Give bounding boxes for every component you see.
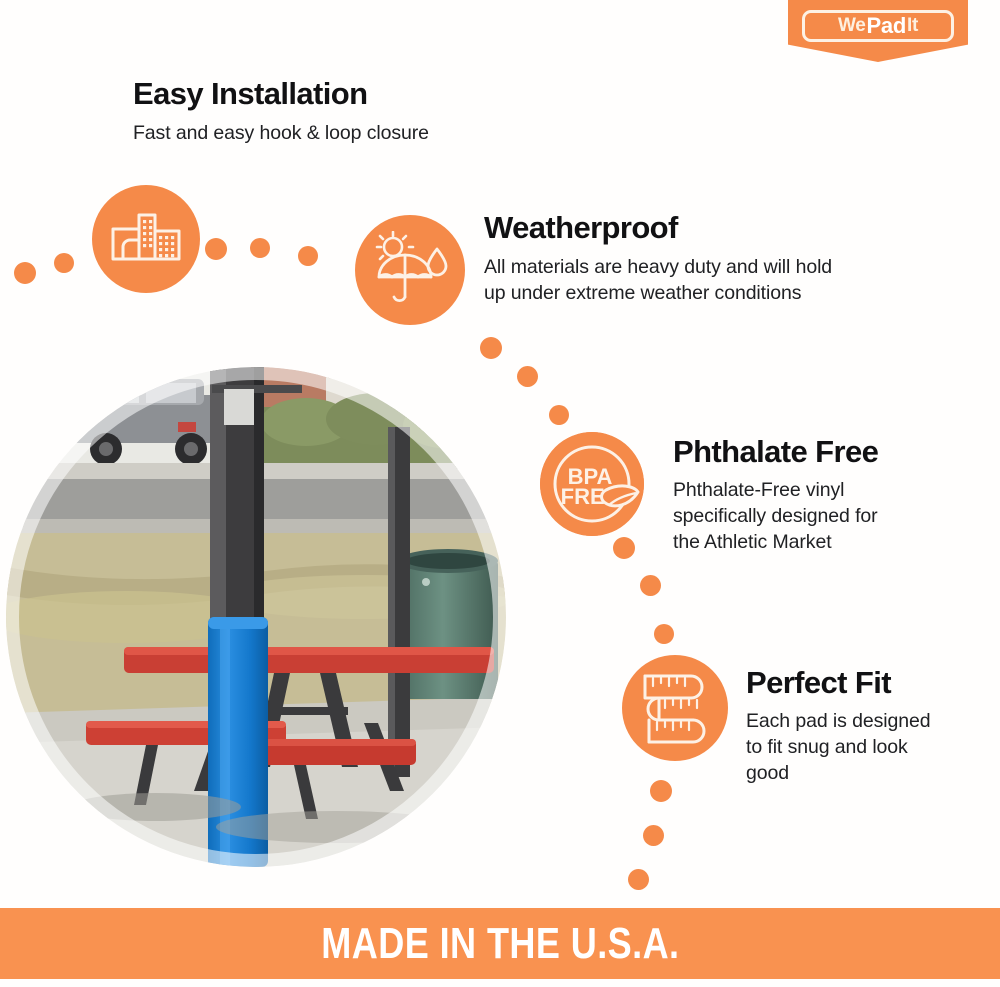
path-dot xyxy=(613,537,635,559)
path-dot xyxy=(628,869,649,890)
feature-title: Phthalate Free xyxy=(673,436,878,469)
brand-logo[interactable]: We Pad It xyxy=(788,0,968,62)
feature-perfect-fit: Perfect Fit Each pad is designed to fit … xyxy=(746,667,930,786)
made-in-usa-text: MADE IN THE U.S.A. xyxy=(321,919,679,969)
logo-text-it: It xyxy=(907,15,918,37)
feature-body: All materials are heavy duty and will ho… xyxy=(484,254,832,307)
path-dot xyxy=(640,575,661,596)
feature-body-line: the Athletic Market xyxy=(673,529,878,555)
path-dot xyxy=(14,262,36,284)
made-in-usa-banner: MADE IN THE U.S.A. xyxy=(0,908,1000,979)
feature-body-line: good xyxy=(746,760,930,786)
feature-easy-installation: Easy Installation Fast and easy hook & l… xyxy=(133,78,429,146)
path-dot xyxy=(480,337,502,359)
feature-body: Phthalate-Free vinyl specifically design… xyxy=(673,477,878,556)
feature-weatherproof: Weatherproof All materials are heavy dut… xyxy=(484,212,832,306)
logo-text-pad: Pad xyxy=(867,13,906,39)
path-dot xyxy=(650,780,672,802)
path-dot xyxy=(54,253,74,273)
feature-body: Each pad is designed to fit snug and loo… xyxy=(746,708,930,787)
path-dot xyxy=(654,624,674,644)
feature-body-line: Phthalate-Free vinyl xyxy=(673,477,878,503)
path-dot xyxy=(250,238,270,258)
feature-body-line: All materials are heavy duty and will ho… xyxy=(484,254,832,280)
pole-pad-photo xyxy=(6,367,506,867)
feature-body-line: specifically designed for xyxy=(673,503,878,529)
path-dot xyxy=(643,825,664,846)
feature-body-line: up under extreme weather conditions xyxy=(484,280,832,306)
product-feature-infographic: We Pad It xyxy=(0,0,1000,987)
logo-text-we: We xyxy=(838,15,866,37)
feature-body-line: Fast and easy hook & loop closure xyxy=(133,120,429,146)
feature-body-line: to fit snug and look xyxy=(746,734,930,760)
path-dot xyxy=(205,238,227,260)
feature-title: Perfect Fit xyxy=(746,667,930,700)
measuring-tape-icon xyxy=(633,666,717,750)
feature-body: Fast and easy hook & loop closure xyxy=(133,120,429,146)
umbrella-sun-raindrop-icon xyxy=(369,231,451,309)
bpa-free-leaf-icon: BPA FREE xyxy=(540,432,644,536)
feature-phthalate-free: Phthalate Free Phthalate-Free vinyl spec… xyxy=(673,436,878,555)
feature-title: Weatherproof xyxy=(484,212,832,245)
path-dot xyxy=(517,366,538,387)
building-hook-loop-icon xyxy=(109,207,183,271)
product-photo xyxy=(6,367,506,867)
feature-title: Easy Installation xyxy=(133,78,429,111)
icon-weatherproof xyxy=(355,215,465,325)
path-dot xyxy=(549,405,569,425)
feature-body-line: Each pad is designed xyxy=(746,708,930,734)
logo-plate: We Pad It xyxy=(802,10,954,42)
icon-building-hook-loop xyxy=(92,185,200,293)
icon-perfect-fit xyxy=(622,655,728,761)
icon-bpa-free: BPA FREE xyxy=(540,432,644,536)
path-dot xyxy=(298,246,318,266)
